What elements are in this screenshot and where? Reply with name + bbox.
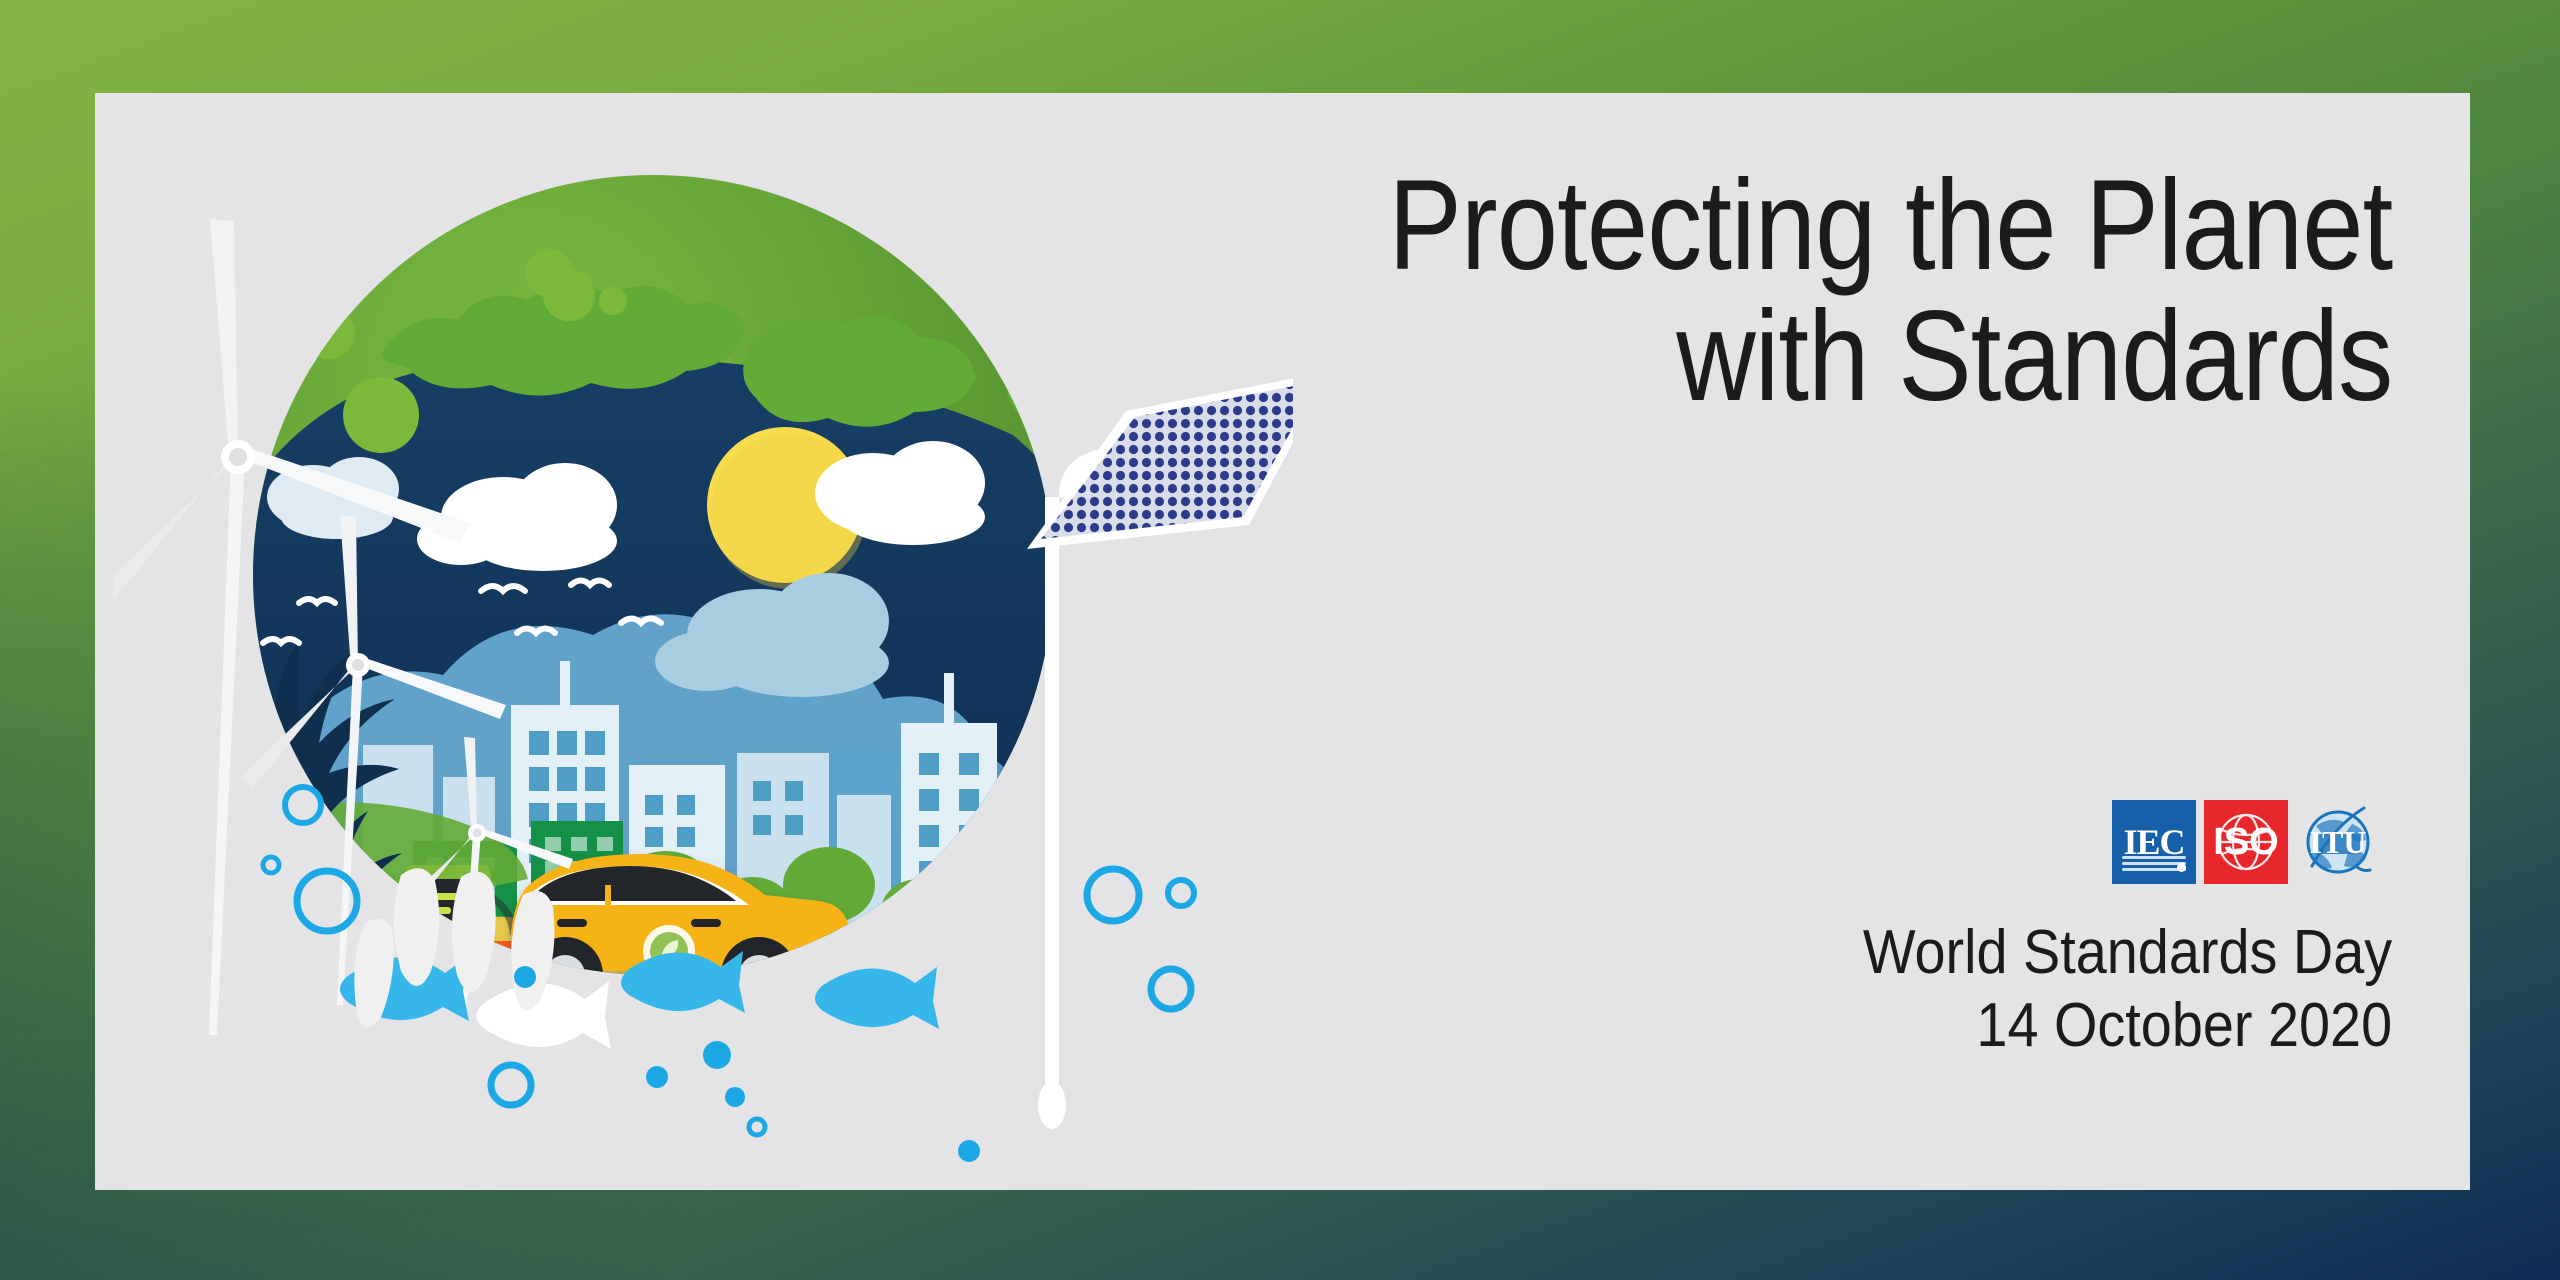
itu-logo-label: ITU bbox=[2310, 824, 2367, 861]
content-panel: Protecting the Planet with Standards IEC bbox=[95, 93, 2470, 1190]
deco-dot-outer bbox=[599, 287, 627, 315]
deco-dot bbox=[303, 307, 355, 359]
iec-logo-dot bbox=[2177, 863, 2186, 872]
solar-street-lamp bbox=[1027, 371, 1293, 1129]
globe-group bbox=[208, 175, 1126, 1185]
title-line-2: with Standards bbox=[1388, 292, 2392, 423]
title-line-1: Protecting the Planet bbox=[1388, 154, 2392, 297]
itu-logo-icon: ITU bbox=[2296, 800, 2380, 884]
deco-dot bbox=[343, 377, 419, 453]
iso-logo-icon: ISO bbox=[2204, 800, 2288, 884]
logo-row: IEC ISO bbox=[2112, 800, 2380, 884]
event-date: 14 October 2020 bbox=[1863, 989, 2392, 1062]
iec-logo-icon: IEC bbox=[2112, 800, 2196, 884]
poster-root: Protecting the Planet with Standards IEC bbox=[0, 0, 2560, 1280]
iso-logo-label: ISO bbox=[2213, 823, 2278, 861]
deco-dot-outer bbox=[525, 249, 573, 297]
page-title: Protecting the Planet with Standards bbox=[1388, 161, 2392, 422]
event-name: World Standards Day bbox=[1863, 918, 2392, 987]
eco-planet-illustration bbox=[113, 105, 1293, 1185]
footer-text: World Standards Day 14 October 2020 bbox=[1863, 916, 2392, 1062]
